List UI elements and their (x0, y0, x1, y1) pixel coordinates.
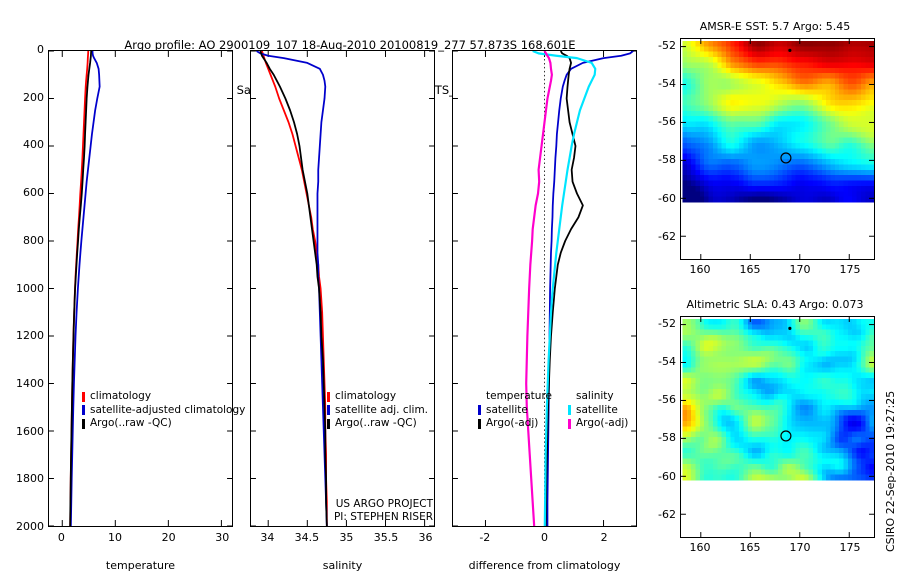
depth-tick-label: 1800 (16, 472, 44, 485)
map-xtick-label: 170 (790, 263, 811, 276)
depth-tick-label: 800 (23, 234, 44, 247)
map-ytick-label: -62 (658, 230, 676, 243)
map-ytick-label: -54 (658, 355, 676, 368)
swatch-spacer (568, 392, 571, 402)
xtick-label: 34 (260, 531, 274, 544)
swatch-satellite (82, 405, 85, 415)
depth-tick-label: 1400 (16, 377, 44, 390)
csiro-timestamp: CSIRO 22-Sep-2010 19:27:25 (884, 391, 897, 552)
difference-legend-temperature: temperature satellite Argo(-adj) (478, 390, 552, 431)
sst-map-panel (680, 38, 875, 260)
map-ytick-label: -62 (658, 508, 676, 521)
salinity-plot (251, 51, 434, 526)
map-ytick-label: -56 (658, 115, 676, 128)
legend-label: Argo(..raw -QC) (90, 417, 172, 431)
legend-heading-row: salinity (568, 390, 628, 404)
legend-label: Argo(-adj) (486, 417, 538, 431)
legend-item: satellite-adjusted climatology (82, 404, 245, 418)
map-xtick-label: 165 (740, 541, 761, 554)
xtick-label: 35.5 (374, 531, 399, 544)
legend-label: Argo(..raw -QC) (335, 417, 417, 431)
map-ytick-label: -52 (658, 39, 676, 52)
legend-heading: temperature (486, 390, 552, 404)
xtick-label: 20 (162, 531, 176, 544)
temperature-xlabel: temperature (48, 559, 233, 572)
swatch-satellite-temp (478, 405, 481, 415)
map-ytick-label: -58 (658, 153, 676, 166)
legend-item: Argo(-adj) (478, 417, 552, 431)
swatch-argo-sal (568, 419, 571, 429)
difference-panel (452, 50, 637, 527)
map-ytick-label: -60 (658, 192, 676, 205)
legend-item: climatology (82, 390, 245, 404)
difference-xlabel: difference from climatology (452, 559, 637, 572)
swatch-argo (82, 419, 85, 429)
swatch-satellite-sal (568, 405, 571, 415)
legend-item: Argo(-adj) (568, 417, 628, 431)
legend-item: climatology (327, 390, 428, 404)
xtick-label: 36 (419, 531, 433, 544)
temperature-legend: climatology satellite-adjusted climatolo… (82, 390, 245, 431)
swatch-climatology (82, 392, 85, 402)
map-ytick-label: -56 (658, 393, 676, 406)
difference-plot (453, 51, 636, 526)
xtick-label: -2 (479, 531, 490, 544)
xtick-label: 0 (541, 531, 548, 544)
sst-map-title: AMSR-E SST: 5.7 Argo: 5.45 (660, 20, 890, 33)
xtick-label: 34.5 (295, 531, 320, 544)
xtick-label: 2 (601, 531, 608, 544)
swatch-spacer (478, 392, 481, 402)
salinity-xlabel: salinity (250, 559, 435, 572)
depth-tick-label: 600 (23, 186, 44, 199)
legend-item: Argo(..raw -QC) (327, 417, 428, 431)
credit-project: US ARGO PROJECT (255, 498, 433, 511)
swatch-satellite (327, 405, 330, 415)
map-ytick-label: -52 (658, 317, 676, 330)
depth-tick-label: 400 (23, 138, 44, 151)
map-xtick-label: 160 (690, 541, 711, 554)
temperature-plot (49, 51, 232, 526)
map-xtick-label: 175 (840, 541, 861, 554)
xtick-label: 0 (58, 531, 65, 544)
temperature-panel (48, 50, 233, 527)
depth-tick-label: 0 (37, 43, 44, 56)
sst-map-plot (681, 39, 874, 259)
sla-map-plot (681, 317, 874, 537)
xtick-label: 10 (108, 531, 122, 544)
map-xtick-label: 175 (840, 263, 861, 276)
depth-tick-label: 1000 (16, 282, 44, 295)
credit-pi: PI: STEPHEN RISER (255, 511, 433, 524)
map-ytick-label: -60 (658, 470, 676, 483)
legend-label: climatology (90, 390, 151, 404)
depth-tick-label: 1600 (16, 425, 44, 438)
salinity-panel (250, 50, 435, 527)
legend-label: climatology (335, 390, 396, 404)
project-credit: US ARGO PROJECT PI: STEPHEN RISER (255, 498, 433, 524)
legend-label: satellite (576, 404, 618, 418)
legend-item: Argo(..raw -QC) (82, 417, 245, 431)
legend-item: satellite adj. clim. (327, 404, 428, 418)
difference-legend-salinity: salinity satellite Argo(-adj) (568, 390, 628, 431)
legend-label: satellite-adjusted climatology (90, 404, 245, 418)
legend-item: satellite (568, 404, 628, 418)
legend-heading: salinity (576, 390, 614, 404)
depth-tick-label: 2000 (16, 520, 44, 533)
depth-tick-label: 200 (23, 91, 44, 104)
swatch-argo (327, 419, 330, 429)
map-xtick-label: 165 (740, 263, 761, 276)
map-xtick-label: 160 (690, 263, 711, 276)
legend-item: satellite (478, 404, 552, 418)
xtick-label: 35 (339, 531, 353, 544)
legend-heading-row: temperature (478, 390, 552, 404)
xtick-label: 30 (215, 531, 229, 544)
swatch-argo-temp (478, 419, 481, 429)
map-xtick-label: 170 (790, 541, 811, 554)
legend-label: satellite adj. clim. (335, 404, 428, 418)
sla-map-panel (680, 316, 875, 538)
legend-label: Argo(-adj) (576, 417, 628, 431)
legend-label: satellite (486, 404, 528, 418)
map-ytick-label: -58 (658, 431, 676, 444)
map-ytick-label: -54 (658, 77, 676, 90)
salinity-legend: climatology satellite adj. clim. Argo(..… (327, 390, 428, 431)
sla-map-title: Altimetric SLA: 0.43 Argo: 0.073 (660, 298, 890, 311)
depth-tick-label: 1200 (16, 329, 44, 342)
swatch-climatology (327, 392, 330, 402)
